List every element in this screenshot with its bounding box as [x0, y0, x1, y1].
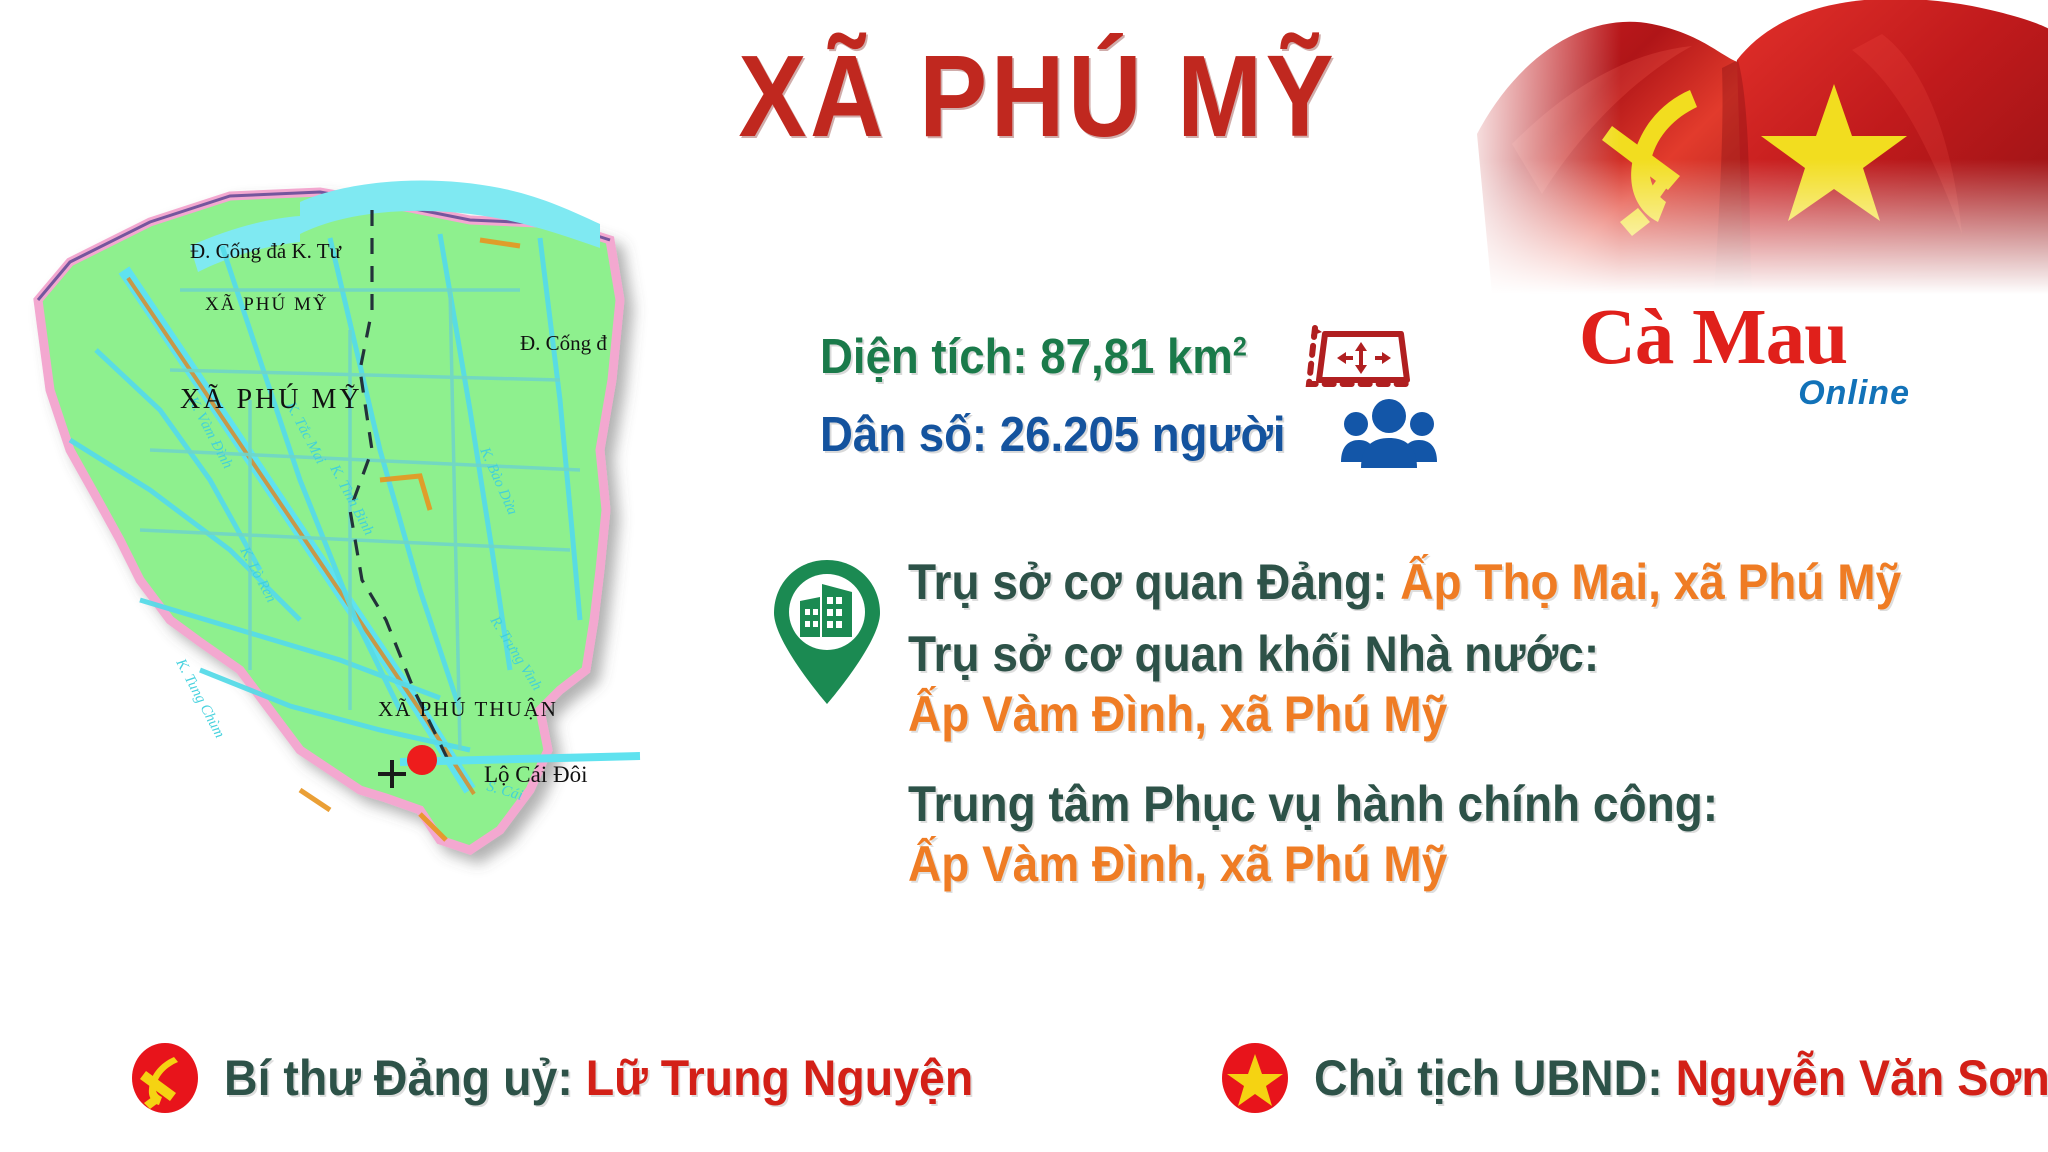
- chairman-name: Nguyễn Văn Sơn: [1675, 1050, 2048, 1106]
- page-title: XÃ PHÚ MỸ: [738, 36, 1301, 158]
- people-group-icon: [1337, 398, 1441, 472]
- office-party-line: Trụ sở cơ quan Đảng: Ấp Thọ Mai, xã Phú …: [908, 552, 1949, 612]
- map-label-main: XÃ PHÚ MỸ: [180, 384, 363, 415]
- area-superscript: 2: [1233, 332, 1247, 362]
- map-label-top: Đ. Cống đá K. Tư: [190, 239, 342, 263]
- population-text: Dân số: 26.205 người: [820, 407, 1286, 463]
- area-text: Diện tích: 87,81 km2: [820, 329, 1247, 385]
- map-label-small: XÃ PHÚ MỸ: [205, 293, 329, 315]
- officials-row: Bí thư Đảng uỷ: Lữ Trung Nguyện Chủ tịch…: [0, 1018, 2048, 1138]
- offices-block: Trụ sở cơ quan Đảng: Ấp Thọ Mai, xã Phú …: [770, 552, 2040, 894]
- secretary-text: Bí thư Đảng uỷ: Lữ Trung Nguyện: [224, 1049, 973, 1107]
- official-chairman: Chủ tịch UBND: Nguyễn Văn Sơn: [1218, 1041, 2048, 1115]
- office-party-label: Trụ sở cơ quan Đảng:: [908, 554, 1400, 610]
- vietnam-flag-circle-icon: [1218, 1041, 1292, 1115]
- map-water-label: K. Tung Chùm: [172, 655, 228, 740]
- map-illustration: K. Vàm Đình K. Tắc Mai K. Tình Binh K. L…: [0, 150, 790, 910]
- logo-main-text: Cà Mau: [1498, 300, 1928, 376]
- ca-mau-online-logo[interactable]: Cà Mau Online: [1498, 300, 1928, 413]
- infographic-root: XÃ PHÚ MỸ: [0, 0, 2048, 1152]
- offices-lines: Trụ sở cơ quan Đảng: Ấp Thọ Mai, xã Phú …: [908, 552, 2040, 894]
- building-location-pin-icon: [770, 557, 885, 707]
- commune-map[interactable]: K. Vàm Đình K. Tắc Mai K. Tình Binh K. L…: [0, 150, 790, 910]
- secretary-label: Bí thư Đảng uỷ:: [224, 1050, 586, 1106]
- map-label-right: Đ. Cống đ: [520, 331, 607, 355]
- stat-row-population: Dân số: 26.205 người: [820, 396, 1500, 474]
- secretary-name: Lữ Trung Nguyện: [586, 1050, 974, 1106]
- flags-illustration: [1452, 0, 2048, 294]
- office-state-label: Trụ sở cơ quan khối Nhà nước:: [908, 624, 1949, 684]
- official-secretary: Bí thư Đảng uỷ: Lữ Trung Nguyện: [128, 1041, 1030, 1115]
- map-label-south: XÃ PHÚ THUẬN: [378, 697, 558, 721]
- area-plot-icon: [1295, 318, 1413, 396]
- map-label-road: Lộ Cái Đôi: [484, 762, 588, 787]
- map-marker-dot: [407, 745, 437, 775]
- chairman-text: Chủ tịch UBND: Nguyễn Văn Sơn: [1314, 1049, 2048, 1107]
- area-label: Diện tích: 87,81 km: [820, 330, 1233, 384]
- stats-block: Diện tích: 87,81 km2 Dân số: [820, 318, 1500, 474]
- stat-row-area: Diện tích: 87,81 km2: [820, 318, 1500, 396]
- flags-banner: [1452, 0, 2048, 294]
- party-emblem-icon: [128, 1041, 202, 1115]
- admin-center-label: Trung tâm Phục vụ hành chính công:: [908, 774, 1949, 834]
- admin-center-value: Ấp Vàm Đình, xã Phú Mỹ: [908, 834, 1949, 894]
- chairman-label: Chủ tịch UBND:: [1314, 1050, 1676, 1106]
- office-state-value: Ấp Vàm Đình, xã Phú Mỹ: [908, 684, 1949, 744]
- office-party-value: Ấp Thọ Mai, xã Phú Mỹ: [1400, 554, 1901, 610]
